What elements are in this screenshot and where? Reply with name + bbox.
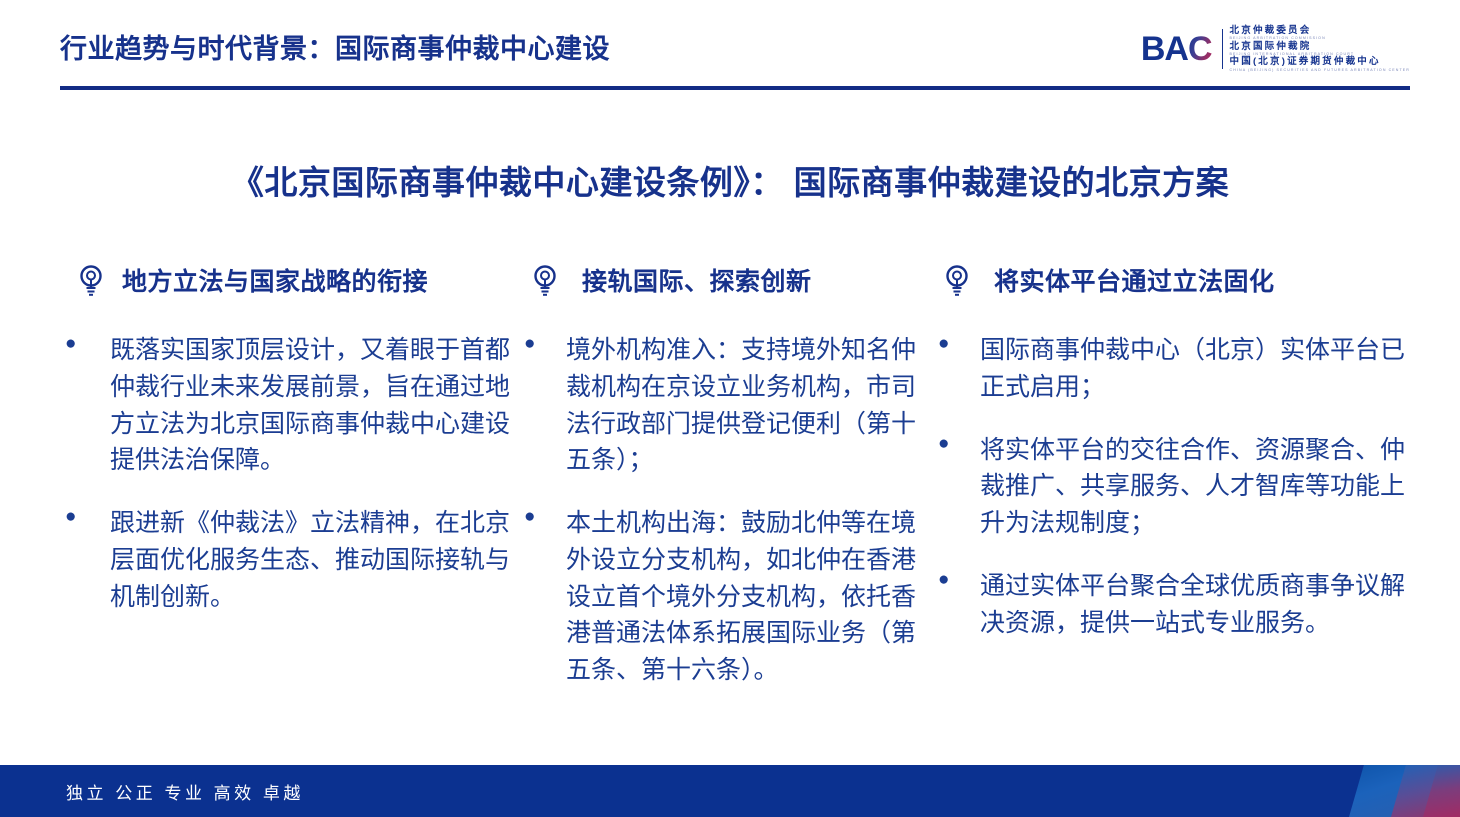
column-platform-legislation: 将实体平台通过立法固化 ● 国际商事仲裁中心（北京）实体平台已正式启用； ● 将…: [930, 252, 1408, 667]
logo-letter-a: A: [1164, 30, 1188, 68]
bullet-text: 既落实国家顶层设计，又着眼于首都仲裁行业未来发展前景，旨在通过地方立法为北京国际…: [110, 332, 518, 479]
page-title: 行业趋势与时代背景：国际商事仲裁中心建设: [60, 27, 610, 66]
list-item: ● 境外机构准入：支持境外知名仲裁机构在京设立业务机构，市司法行政部门提供登记便…: [518, 332, 930, 479]
bullet-dot-icon: ●: [65, 505, 75, 615]
list-item: ● 本土机构出海：鼓励北仲等在境外设立分支机构，如北仲在香港设立首个境外分支机构…: [518, 505, 930, 689]
logo-line-3: 中国(北京)证券期货仲裁中心 CHINA (BEIJING) SECURITIE…: [1230, 57, 1410, 72]
list-item: ● 跟进新《仲裁法》立法精神，在北京层面优化服务生态、推动国际接轨与机制创新。: [56, 505, 518, 615]
bac-logo: BAC 北京仲裁委员会 BEIJING ARBITRATION COMMISSI…: [1141, 26, 1410, 72]
header-divider: [60, 86, 1410, 90]
footer-slogan: 独立 公正 专业 高效 卓越: [66, 765, 304, 817]
column-heading-2: 接轨国际、探索创新: [518, 252, 930, 308]
logo-wordmark: BAC: [1141, 32, 1220, 66]
bullet-text: 跟进新《仲裁法》立法精神，在北京层面优化服务生态、推动国际接轨与机制创新。: [110, 505, 518, 615]
list-item: ● 通过实体平台聚合全球优质商事争议解决资源，提供一站式专业服务。: [930, 568, 1408, 642]
lightbulb-icon: [942, 263, 972, 297]
bullet-dot-icon: ●: [938, 568, 948, 642]
bullet-text: 将实体平台的交往合作、资源聚合、仲裁推广、共享服务、人才智库等功能上升为法规制度…: [980, 432, 1408, 542]
logo-text-block: 北京仲裁委员会 BEIJING ARBITRATION COMMISSION 北…: [1230, 26, 1410, 72]
column-local-legislation: 地方立法与国家战略的衔接 ● 既落实国家顶层设计，又着眼于首都仲裁行业未来发展前…: [56, 252, 518, 641]
slide-header: 行业趋势与时代背景：国际商事仲裁中心建设 BAC 北京仲裁委员会 BEIJING…: [0, 0, 1460, 100]
logo-line-2: 北京国际仲裁院 BEIJING INTERNATIONAL ARBITRATIO…: [1230, 42, 1410, 57]
logo-letter-b: B: [1141, 30, 1165, 68]
logo-letter-c: C: [1188, 30, 1212, 68]
lightbulb-icon: [76, 263, 106, 297]
bullet-list-2: ● 境外机构准入：支持境外知名仲裁机构在京设立业务机构，市司法行政部门提供登记便…: [518, 332, 930, 689]
logo-line-1: 北京仲裁委员会 BEIJING ARBITRATION COMMISSION: [1230, 26, 1410, 41]
footer-decoration: [1320, 765, 1460, 817]
bullet-text: 境外机构准入：支持境外知名仲裁机构在京设立业务机构，市司法行政部门提供登记便利（…: [566, 332, 930, 479]
bullet-dot-icon: ●: [524, 505, 534, 689]
bullet-dot-icon: ●: [65, 332, 75, 479]
column-international-innovation: 接轨国际、探索创新 ● 境外机构准入：支持境外知名仲裁机构在京设立业务机构，市司…: [518, 252, 930, 715]
bullet-text: 通过实体平台聚合全球优质商事争议解决资源，提供一站式专业服务。: [980, 568, 1408, 642]
column-heading-label: 接轨国际、探索创新: [582, 262, 812, 298]
bullet-text: 国际商事仲裁中心（北京）实体平台已正式启用；: [980, 332, 1408, 406]
list-item: ● 既落实国家顶层设计，又着眼于首都仲裁行业未来发展前景，旨在通过地方立法为北京…: [56, 332, 518, 479]
bullet-list-3: ● 国际商事仲裁中心（北京）实体平台已正式启用； ● 将实体平台的交往合作、资源…: [930, 332, 1408, 641]
list-item: ● 将实体平台的交往合作、资源聚合、仲裁推广、共享服务、人才智库等功能上升为法规…: [930, 432, 1408, 542]
bullet-dot-icon: ●: [938, 332, 948, 406]
column-heading-3: 将实体平台通过立法固化: [930, 252, 1408, 308]
bullet-dot-icon: ●: [938, 432, 948, 542]
bullet-text: 本土机构出海：鼓励北仲等在境外设立分支机构，如北仲在香港设立首个境外分支机构，依…: [566, 505, 930, 689]
bullet-list-1: ● 既落实国家顶层设计，又着眼于首都仲裁行业未来发展前景，旨在通过地方立法为北京…: [56, 332, 518, 615]
column-heading-1: 地方立法与国家战略的衔接: [56, 252, 518, 308]
slide-footer: 独立 公正 专业 高效 卓越: [0, 765, 1460, 817]
list-item: ● 国际商事仲裁中心（北京）实体平台已正式启用；: [930, 332, 1408, 406]
content-columns: 地方立法与国家战略的衔接 ● 既落实国家顶层设计，又着眼于首都仲裁行业未来发展前…: [56, 252, 1408, 715]
column-heading-label: 地方立法与国家战略的衔接: [122, 262, 428, 298]
column-heading-label: 将实体平台通过立法固化: [994, 262, 1275, 298]
logo-divider: [1222, 29, 1223, 69]
bullet-dot-icon: ●: [524, 332, 534, 479]
lightbulb-icon: [530, 263, 560, 297]
main-title: 《北京国际商事仲裁中心建设条例》： 国际商事仲裁建设的北京方案: [0, 156, 1460, 204]
